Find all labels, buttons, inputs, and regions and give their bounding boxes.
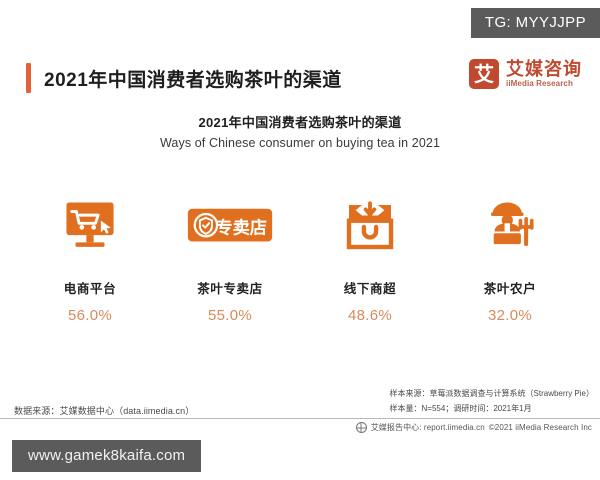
imedia-logo: 艾 艾媒咨询 iiMedia Research (469, 59, 582, 89)
channel-label: 电商平台 (64, 278, 116, 297)
page-title: 2021年中国消费者选购茶叶的渠道 (44, 65, 342, 92)
logo-name-en: iiMedia Research (506, 80, 582, 89)
channel-label: 线下商超 (344, 278, 396, 297)
footer-copyright-row: 艾媒报告中心: report.iimedia.cn ©2021 iiMedia … (356, 422, 592, 433)
channel-value: 32.0% (488, 307, 532, 324)
channel-value: 48.6% (348, 307, 392, 324)
footer-sample-source: 样本来源：草莓派数据调查与计算系统（Strawberry Pie） (390, 386, 594, 401)
channel-item-specialty-store: 专卖店 茶叶专卖店 55.0% (170, 190, 290, 324)
channel-items-row: 电商平台 56.0% 专卖店 茶叶专卖店 55.0% (30, 190, 570, 324)
ecommerce-monitor-cart-icon (61, 190, 119, 262)
title-accent-bar (26, 63, 31, 93)
page-header: 2021年中国消费者选购茶叶的渠道 艾 艾媒咨询 iiMedia Researc… (0, 55, 600, 101)
channel-value: 56.0% (68, 307, 112, 324)
chart-title: 2021年中国消费者选购茶叶的渠道 (0, 112, 600, 131)
footer-data-source: 数据来源：艾媒数据中心（data.iimedia.cn） (14, 404, 194, 417)
channel-label: 茶叶农户 (484, 278, 536, 297)
channel-item-tea-farmer: 茶叶农户 32.0% (450, 190, 570, 324)
footer-report-center: 艾媒报告中心: report.iimedia.cn (371, 422, 485, 433)
site-watermark-badge: www.gamek8kaifa.com (12, 440, 201, 472)
logo-mark-icon: 艾 (469, 59, 499, 89)
footer-divider (0, 418, 600, 419)
footer-sample-info: 样本来源：草莓派数据调查与计算系统（Strawberry Pie） 样本量：N=… (390, 386, 594, 416)
logo-name-cn: 艾媒咨询 (506, 60, 582, 79)
channel-item-ecommerce: 电商平台 56.0% (30, 190, 150, 324)
globe-icon (356, 422, 367, 433)
specialty-store-badge-icon: 专卖店 (187, 190, 273, 262)
page-title-wrap: 2021年中国消费者选购茶叶的渠道 (26, 55, 342, 101)
badge-text: 专卖店 (215, 218, 267, 239)
tea-farmer-icon (481, 190, 539, 262)
chart-subtitle: Ways of Chinese consumer on buying tea i… (0, 136, 600, 150)
channel-label: 茶叶专卖店 (197, 278, 263, 297)
logo-text: 艾媒咨询 iiMedia Research (506, 60, 582, 89)
footer-sample-size: 样本量：N=554；调研时间：2021年1月 (390, 401, 594, 416)
channel-value: 55.0% (208, 307, 252, 324)
offline-supermarket-bag-icon (342, 190, 398, 262)
tg-watermark-badge: TG: MYYJJPP (471, 8, 600, 38)
channel-item-offline-supermarket: 线下商超 48.6% (310, 190, 430, 324)
footer-copyright: ©2021 iiMedia Research Inc (489, 423, 592, 432)
